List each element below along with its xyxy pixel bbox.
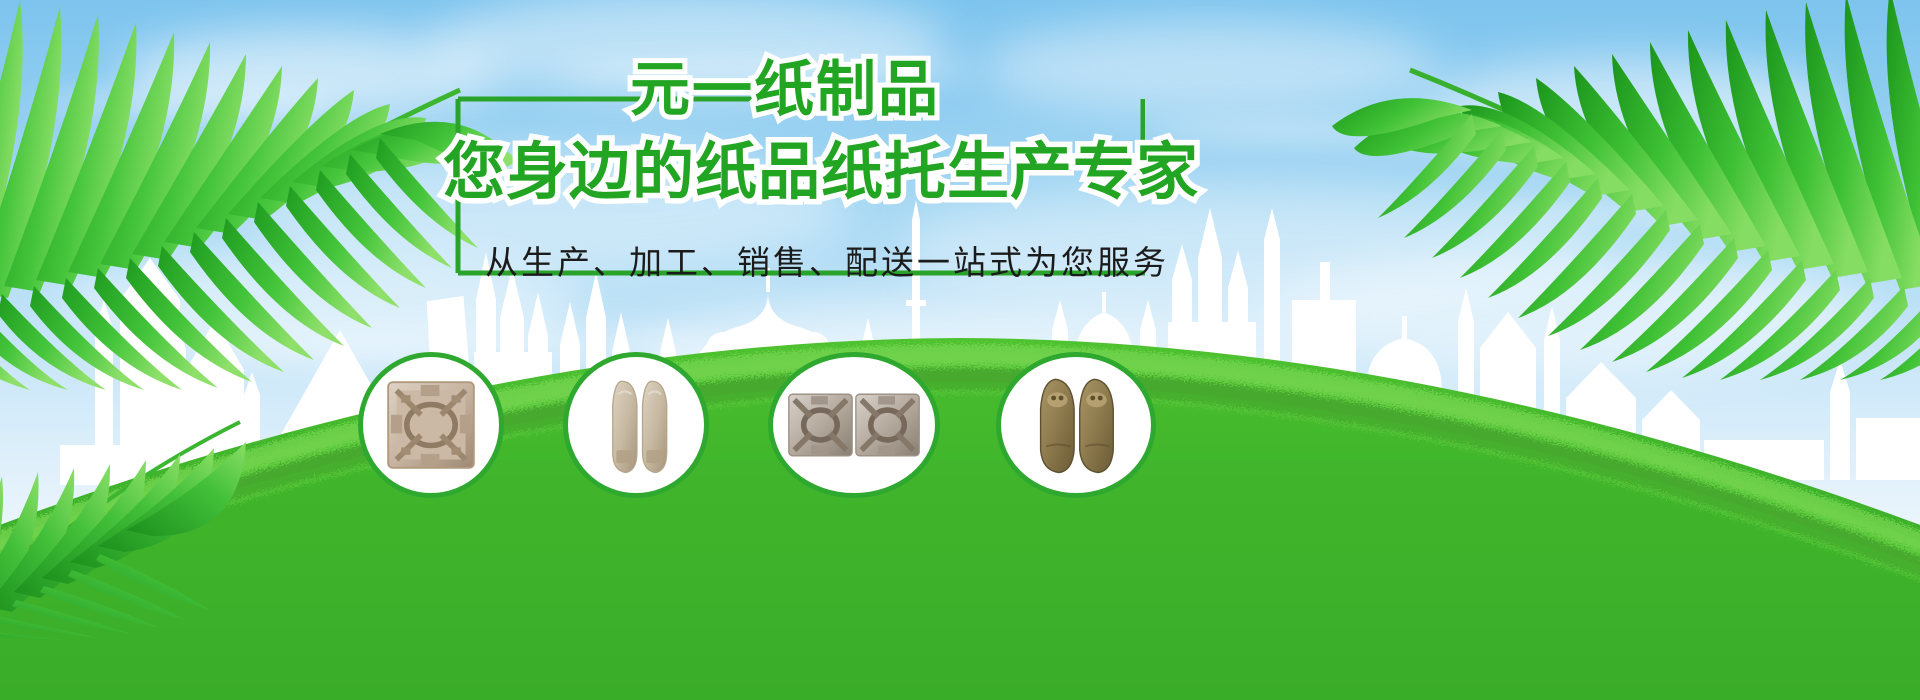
product-circle[interactable] [996,352,1156,498]
molded-pulp-shoe-tree-pair [568,357,704,493]
molded-pulp-tray-square [363,357,499,493]
product-circle[interactable] [563,352,709,498]
molded-pulp-shoe-form-pair [1001,357,1151,493]
molded-pulp-packaging-pair [773,357,935,493]
promo-banner: 元一纸制品 您身边的纸品纸托生产专家 从生产、加工、销售、配送一站式为您服务 [0,0,1920,700]
product-circle[interactable] [358,352,504,498]
product-circle[interactable] [768,352,940,498]
product-circle-row [0,0,1920,700]
